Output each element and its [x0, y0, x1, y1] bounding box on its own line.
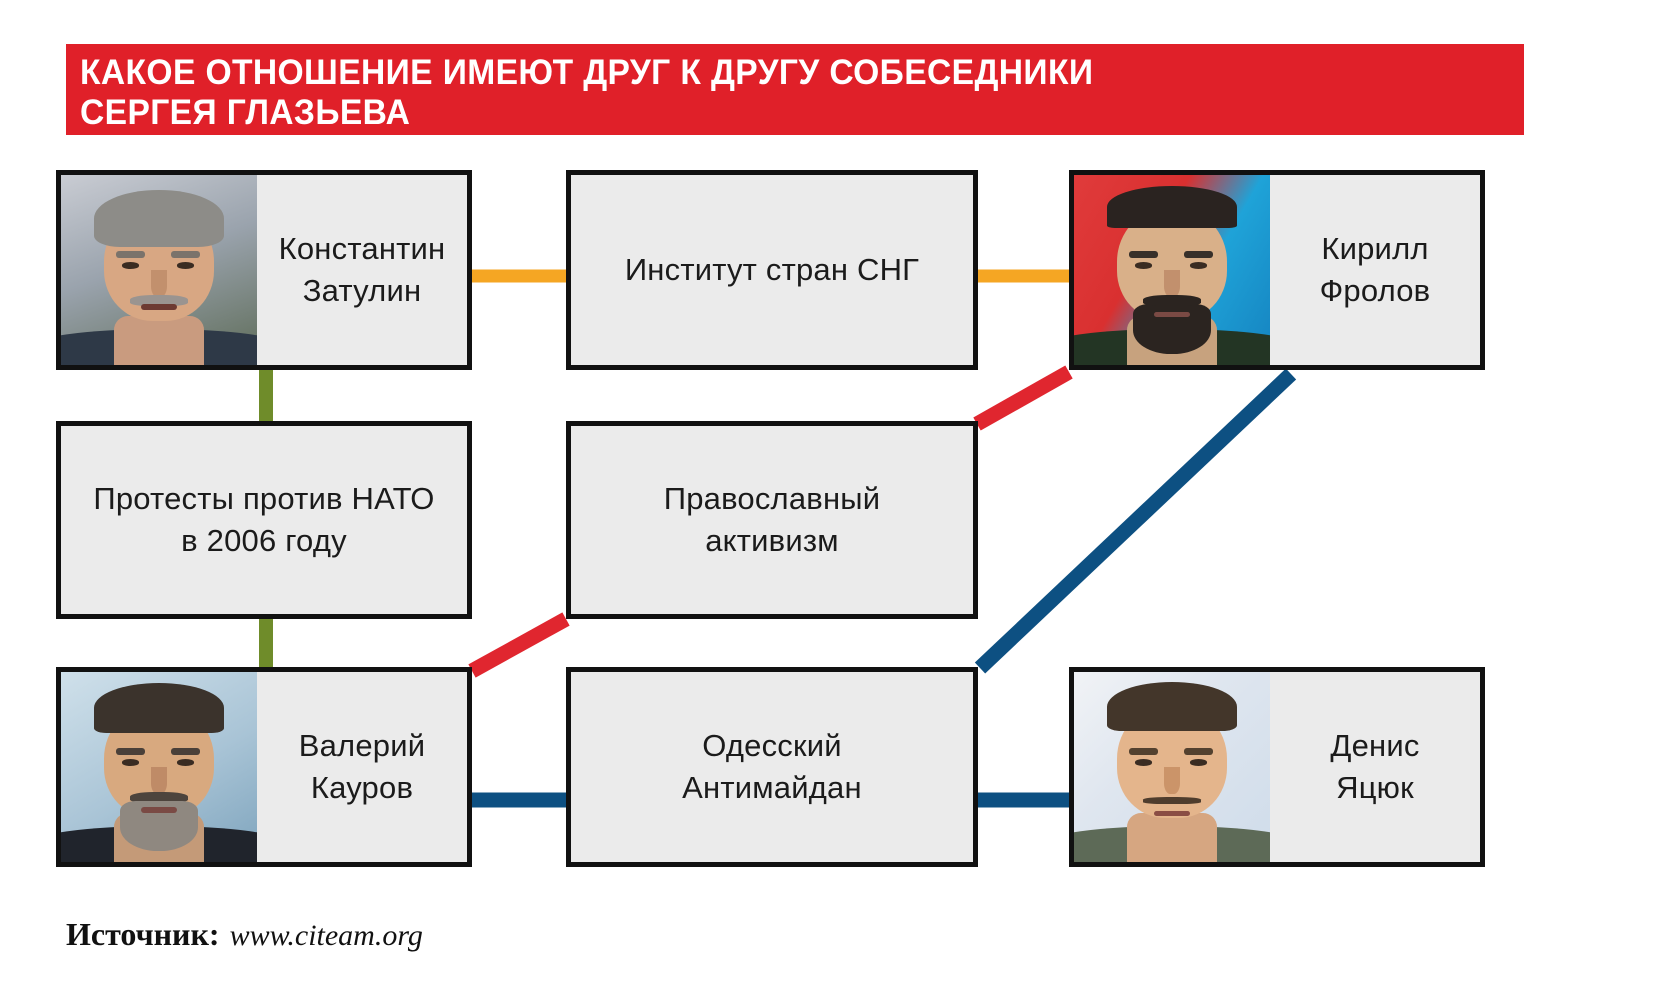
node-nato[interactable]: Протесты против НАТО в 2006 году — [56, 421, 472, 619]
node-institut[interactable]: Институт стран СНГ — [566, 170, 978, 370]
page-title: КАКОЕ ОТНОШЕНИЕ ИМЕЮТ ДРУГ К ДРУГУ СОБЕС… — [80, 53, 1466, 133]
source-label: Источник: — [66, 916, 220, 953]
node-label: Кирилл Фролов — [1270, 175, 1480, 365]
edge-orthodox-kaurov — [472, 619, 566, 671]
node-label: Денис Яцюк — [1270, 672, 1480, 862]
node-frolov[interactable]: Кирилл Фролов — [1069, 170, 1485, 370]
edge-frolov-orthodox — [977, 372, 1069, 424]
infographic-canvas: КАКОЕ ОТНОШЕНИЕ ИМЕЮТ ДРУГ К ДРУГУ СОБЕС… — [0, 0, 1655, 998]
node-odessa-antimaidan[interactable]: Одесский Антимайдан — [566, 667, 978, 867]
node-label: Протесты против НАТО в 2006 году — [61, 426, 467, 614]
avatar-yatsyuk — [1074, 672, 1270, 862]
node-label: Институт стран СНГ — [571, 175, 973, 365]
node-label: Константин Затулин — [257, 175, 467, 365]
node-label: Православный активизм — [571, 426, 973, 614]
node-label: Одесский Антимайдан — [571, 672, 973, 862]
node-orthodox-activism[interactable]: Православный активизм — [566, 421, 978, 619]
edge-frolov-odessa — [980, 374, 1291, 668]
node-kaurov[interactable]: Валерий Кауров — [56, 667, 472, 867]
node-zatulin[interactable]: Константин Затулин — [56, 170, 472, 370]
avatar-frolov — [1074, 175, 1270, 365]
source-url[interactable]: www.citeam.org — [230, 919, 423, 953]
avatar-kaurov — [61, 672, 257, 862]
title-banner: КАКОЕ ОТНОШЕНИЕ ИМЕЮТ ДРУГ К ДРУГУ СОБЕС… — [66, 44, 1524, 135]
node-label: Валерий Кауров — [257, 672, 467, 862]
source-footer: Источник: www.citeam.org — [66, 916, 423, 953]
avatar-zatulin — [61, 175, 257, 365]
node-yatsyuk[interactable]: Денис Яцюк — [1069, 667, 1485, 867]
